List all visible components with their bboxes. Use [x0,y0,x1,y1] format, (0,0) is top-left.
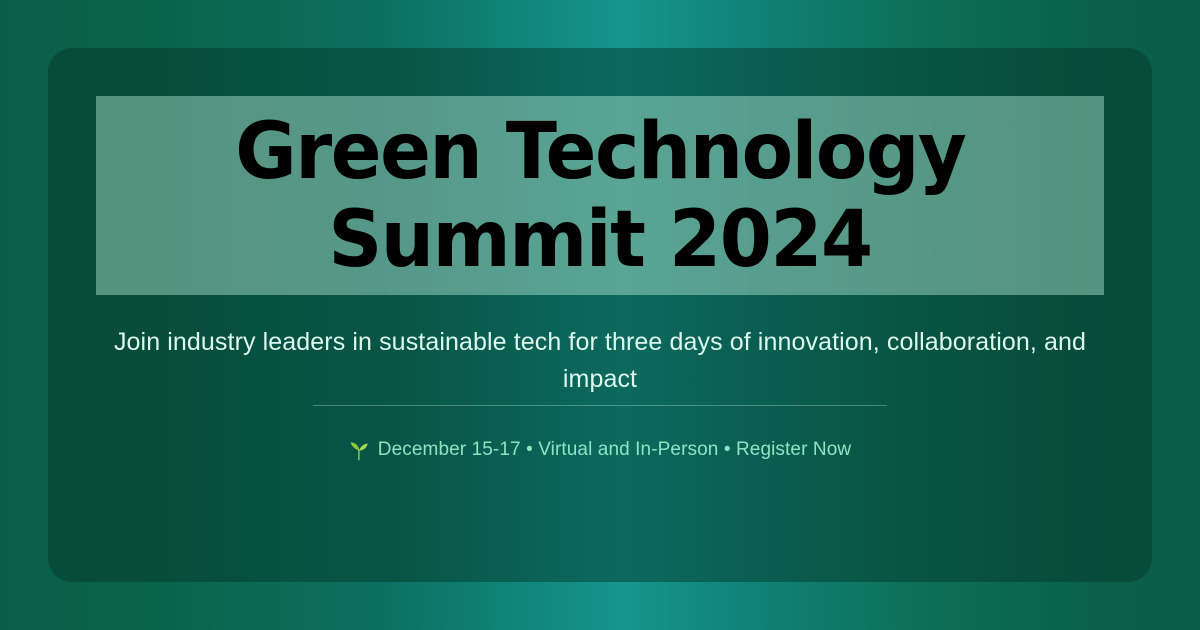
event-title-line-2: Summit 2024 [328,196,871,284]
event-banner: Green Technology Summit 2024 Join indust… [0,0,1200,630]
event-title-line-1: Green Technology [235,108,965,196]
event-meta-text: December 15-17 • Virtual and In-Person •… [378,437,851,463]
section-divider [313,405,887,406]
event-subtitle: Join industry leaders in sustainable tec… [96,324,1104,398]
seedling-icon [349,439,369,461]
banner-card: Green Technology Summit 2024 Join indust… [48,48,1152,582]
event-meta-row: December 15-17 • Virtual and In-Person •… [96,437,1104,463]
title-band: Green Technology Summit 2024 [96,96,1104,295]
